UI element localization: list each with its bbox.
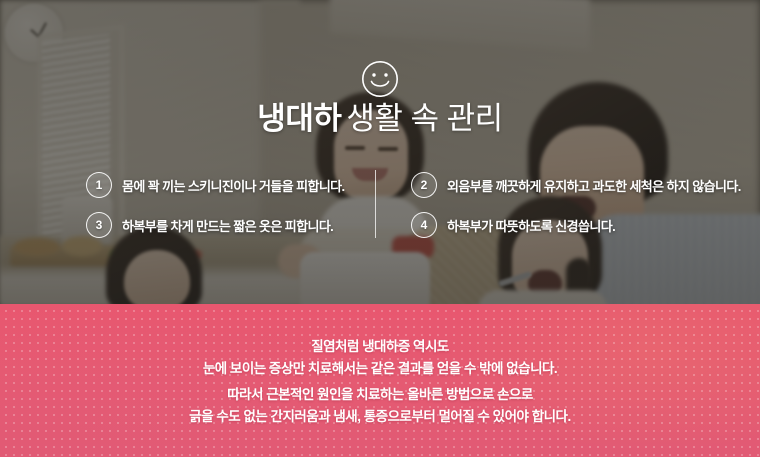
message-line: 질염처럼 냉대하증 역시도 [0, 336, 760, 358]
pink-message-panel: 질염처럼 냉대하증 역시도 눈에 보이는 증상만 치료해서는 같은 결과를 얻을… [0, 304, 760, 457]
tip-item-4: 4 하복부가 따뜻하도록 신경씁니다. [411, 212, 615, 238]
tip-item-2: 2 외음부를 깨끗하게 유지하고 과도한 세척은 하지 않습니다. [411, 172, 741, 198]
message-line: 긁을 수도 없는 간지러움과 냄새, 통증으로부터 멀어질 수 있어야 합니다. [0, 406, 760, 428]
message-paragraph-1: 질염처럼 냉대하증 역시도 눈에 보이는 증상만 치료해서는 같은 결과를 얻을… [0, 336, 760, 380]
page-title-light: 생활 속 관리 [346, 101, 502, 136]
page-title-strong: 냉대하 [257, 101, 341, 136]
tip-text: 하복부가 따뜻하도록 신경씁니다. [447, 216, 615, 235]
tip-number-badge: 3 [86, 212, 112, 238]
tip-item-3: 3 하복부를 차게 만드는 짧은 옷은 피합니다. [86, 212, 333, 238]
promo-banner: 냉대하생활 속 관리 1 몸에 꽉 끼는 스키니진이나 거들을 피합니다. 2 … [0, 0, 760, 457]
message-line: 따라서 근본적인 원인을 치료하는 올바른 방법으로 손으로 [0, 384, 760, 406]
smiley-face-icon [361, 60, 399, 98]
pink-panel-content: 질염처럼 냉대하증 역시도 눈에 보이는 증상만 치료해서는 같은 결과를 얻을… [0, 304, 760, 457]
tip-item-1: 1 몸에 꽉 끼는 스키니진이나 거들을 피합니다. [86, 172, 345, 198]
message-line: 눈에 보이는 증상만 치료해서는 같은 결과를 얻을 수 밖에 없습니다. [0, 358, 760, 380]
tip-text: 하복부를 차게 만드는 짧은 옷은 피합니다. [122, 216, 333, 235]
tip-text: 몸에 꽉 끼는 스키니진이나 거들을 피합니다. [122, 176, 345, 195]
tips-list: 1 몸에 꽉 끼는 스키니진이나 거들을 피합니다. 2 외음부를 깨끗하게 유… [0, 168, 760, 244]
message-paragraph-2: 따라서 근본적인 원인을 치료하는 올바른 방법으로 손으로 긁을 수도 없는 … [0, 384, 760, 428]
header-content: 냉대하생활 속 관리 1 몸에 꽉 끼는 스키니진이나 거들을 피합니다. 2 … [0, 0, 760, 304]
tip-number-badge: 2 [411, 172, 437, 198]
family-photo-section: 냉대하생활 속 관리 1 몸에 꽉 끼는 스키니진이나 거들을 피합니다. 2 … [0, 0, 760, 304]
tip-text: 외음부를 깨끗하게 유지하고 과도한 세척은 하지 않습니다. [447, 176, 741, 195]
tip-number-badge: 4 [411, 212, 437, 238]
page-title: 냉대하생활 속 관리 [0, 100, 760, 138]
tip-number-badge: 1 [86, 172, 112, 198]
